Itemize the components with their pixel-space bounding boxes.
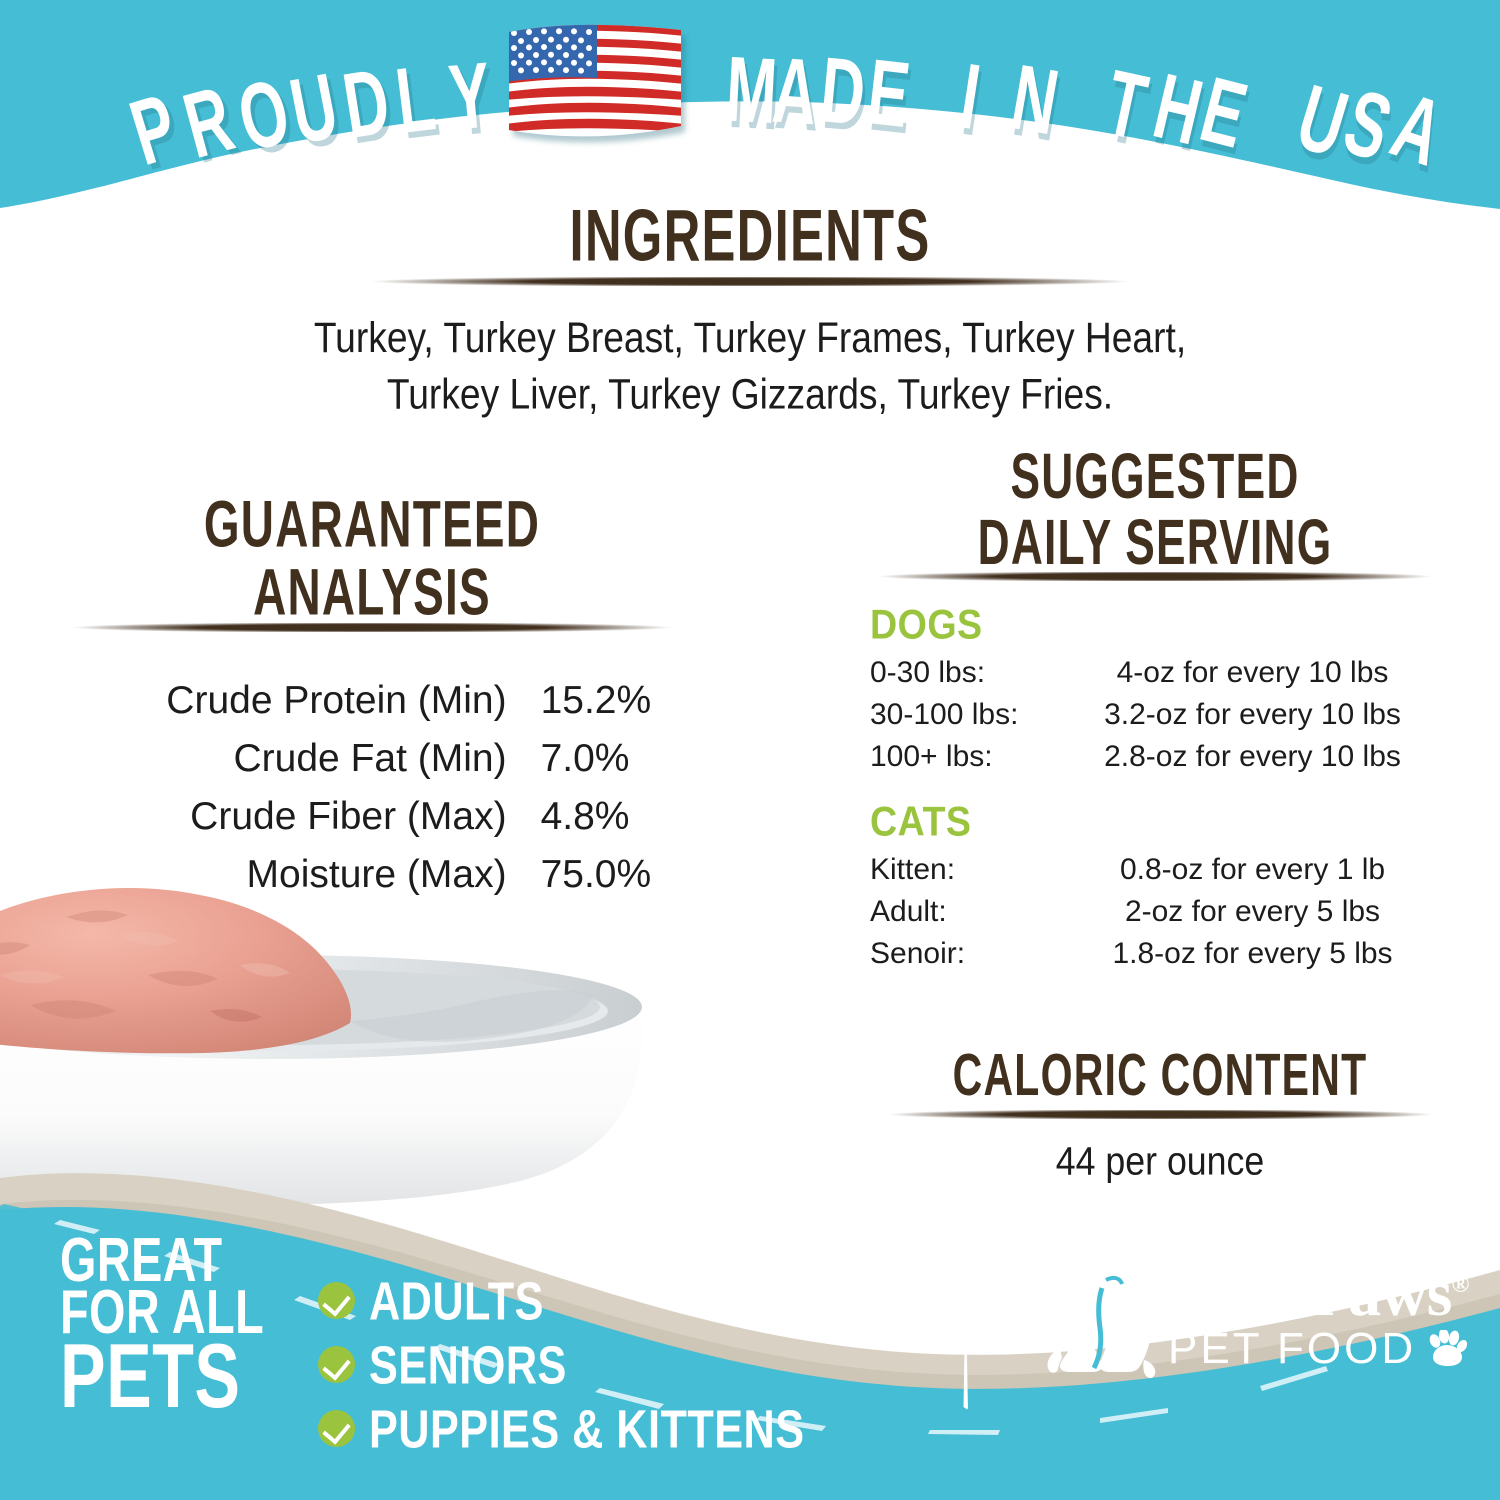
ingredients-line-2: Turkey Liver, Turkey Gizzards, Turkey Fr…	[53, 367, 1448, 423]
great-line-3: PETS	[60, 1335, 264, 1420]
serving-row: Senoir:1.8-oz for every 5 lbs	[870, 933, 1440, 975]
serving-row-amount: 3.2-oz for every 10 lbs	[1065, 694, 1440, 736]
serving-row-weight: Senoir:	[870, 933, 1065, 975]
analysis-row: Crude Protein (Min)15.2%	[62, 672, 682, 730]
brand-name-text: Raw Paws	[1168, 1257, 1452, 1330]
suitable-pets-list: ADULTSSENIORSPUPPIES & KITTENS	[318, 1268, 842, 1460]
serving-row-weight: Kitten:	[870, 849, 1065, 891]
headline-letter: A	[770, 44, 820, 140]
brand-tagline: PET FOOD	[1168, 1325, 1416, 1373]
guaranteed-analysis-title: GUARANTEED ANALYSIS	[118, 490, 626, 626]
suitable-pets-item: ADULTS	[318, 1268, 842, 1332]
headline-letter: D	[817, 45, 868, 141]
dog-cat-silhouette-icon	[1040, 1252, 1158, 1382]
brand-logo-text: Raw Paws® PET FOOD	[1168, 1261, 1468, 1373]
suggested-daily-serving-section: SUGGESTED DAILY SERVING DOGS0-30 lbs:4-o…	[870, 455, 1440, 975]
brand-logo[interactable]: Raw Paws® PET FOOD	[1040, 1252, 1468, 1382]
serving-table: Kitten:0.8-oz for every 1 lbAdult:2-oz f…	[870, 849, 1440, 975]
serving-group-cats: CATSKitten:0.8-oz for every 1 lbAdult:2-…	[870, 800, 1440, 975]
serving-group-title: DOGS	[870, 602, 1406, 649]
serving-row: 30-100 lbs:3.2-oz for every 10 lbs	[870, 694, 1440, 736]
headline-letter: I	[954, 51, 984, 145]
product-label-infographic: PROUDLY MADE IN THE USA	[0, 0, 1500, 1500]
serving-row: 100+ lbs:2.8-oz for every 10 lbs	[870, 736, 1440, 778]
headline-letter: E	[863, 46, 913, 143]
headline-made-in-the-usa: MADE IN THE USA	[0, 0, 1500, 200]
serving-row-amount: 0.8-oz for every 1 lb	[1065, 849, 1440, 891]
serving-title-line-2: DAILY SERVING	[921, 511, 1388, 577]
serving-group-title: CATS	[870, 799, 1406, 846]
ingredients-section: INGREDIENTS Turkey, Turkey Breast, Turke…	[0, 205, 1500, 419]
registered-mark: ®	[1452, 1272, 1469, 1298]
brand-name: Raw Paws®	[1168, 1261, 1468, 1327]
serving-row-amount: 2-oz for every 5 lbs	[1065, 891, 1440, 933]
serving-row-weight: 0-30 lbs:	[870, 652, 1065, 694]
us-flag-icon	[505, 22, 685, 144]
serving-row-weight: 30-100 lbs:	[870, 694, 1065, 736]
caloric-content-title: CALORIC CONTENT	[930, 1045, 1389, 1106]
serving-table: 0-30 lbs:4-oz for every 10 lbs30-100 lbs…	[870, 652, 1440, 778]
suitable-pets-item: SENIORS	[318, 1332, 842, 1396]
analysis-row-value: 7.0%	[541, 730, 682, 788]
analysis-row-label: Crude Fiber (Max)	[62, 788, 541, 846]
serving-row-weight: Adult:	[870, 891, 1065, 933]
serving-row: Adult:2-oz for every 5 lbs	[870, 891, 1440, 933]
footer-content: GREAT FOR ALL PETS ADULTSSENIORSPUPPIES …	[0, 1210, 1500, 1500]
brand-divider	[963, 1258, 968, 1410]
brand-tagline-row: PET FOOD	[1168, 1325, 1468, 1373]
serving-title-line-1: SUGGESTED	[921, 445, 1388, 511]
serving-group-dogs: DOGS0-30 lbs:4-oz for every 10 lbs30-100…	[870, 603, 1440, 778]
serving-row: 0-30 lbs:4-oz for every 10 lbs	[870, 652, 1440, 694]
paw-print-icon	[1426, 1330, 1468, 1368]
ingredients-body: Turkey, Turkey Breast, Turkey Frames, Tu…	[53, 311, 1448, 423]
serving-row: Kitten:0.8-oz for every 1 lb	[870, 849, 1440, 891]
analysis-row-value: 4.8%	[541, 788, 682, 846]
analysis-row-value: 15.2%	[541, 672, 682, 730]
check-circle-icon	[318, 1410, 355, 1447]
analysis-row: Crude Fat (Min)7.0%	[62, 730, 682, 788]
headline-letter: T	[1098, 57, 1153, 155]
section-rule	[370, 277, 1130, 286]
serving-row-amount: 4-oz for every 10 lbs	[1065, 652, 1440, 694]
ingredients-title: INGREDIENTS	[135, 199, 1365, 274]
analysis-row: Crude Fiber (Max)4.8%	[62, 788, 682, 846]
serving-row-weight: 100+ lbs:	[870, 736, 1065, 778]
ingredients-line-1: Turkey, Turkey Breast, Turkey Frames, Tu…	[53, 311, 1448, 367]
suitable-pets-item: PUPPIES & KITTENS	[318, 1396, 842, 1460]
check-circle-icon	[318, 1346, 355, 1383]
suitable-pets-label: SENIORS	[369, 1332, 567, 1395]
great-for-all-pets-heading: GREAT FOR ALL PETS	[60, 1232, 287, 1405]
analysis-row-label: Crude Fat (Min)	[62, 730, 541, 788]
serving-row-amount: 2.8-oz for every 10 lbs	[1065, 736, 1440, 778]
analysis-row-label: Crude Protein (Min)	[62, 672, 541, 730]
suitable-pets-label: ADULTS	[369, 1268, 544, 1331]
check-circle-icon	[318, 1282, 355, 1319]
serving-title: SUGGESTED DAILY SERVING	[921, 445, 1388, 576]
guaranteed-analysis-section: GUARANTEED ANALYSIS Crude Protein (Min)1…	[62, 500, 682, 904]
suitable-pets-label: PUPPIES & KITTENS	[369, 1396, 804, 1459]
serving-row-amount: 1.8-oz for every 5 lbs	[1065, 933, 1440, 975]
